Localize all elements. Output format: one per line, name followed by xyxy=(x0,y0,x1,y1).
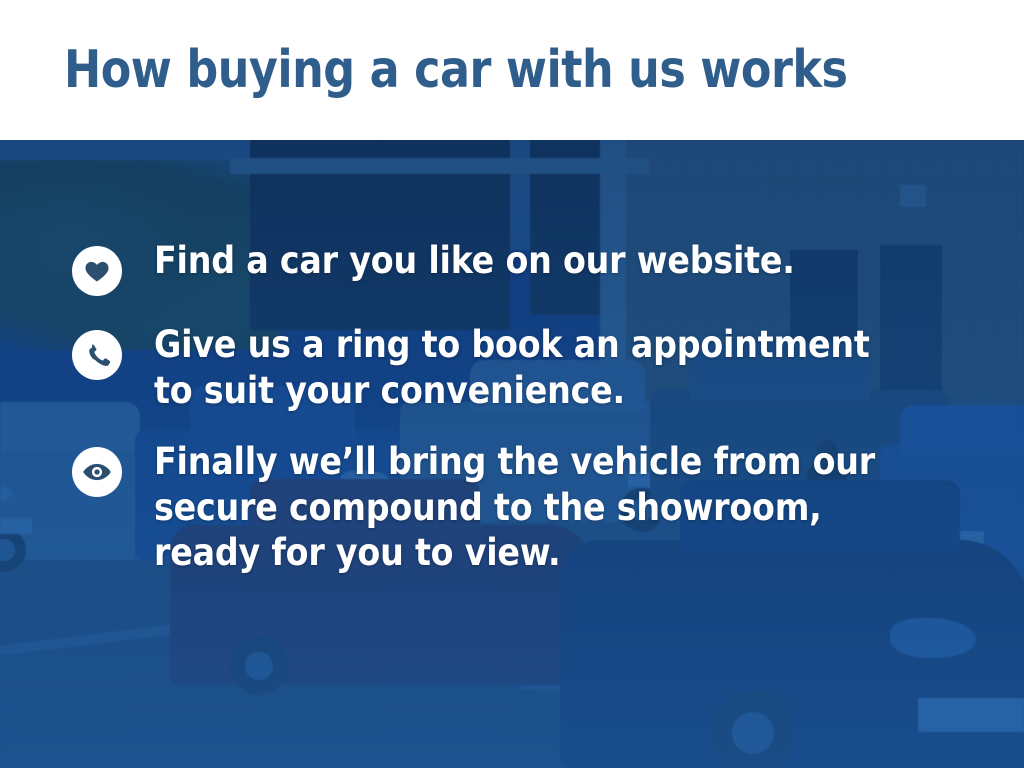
list-item-step-3: Finally we’ll bring the vehicle from our… xyxy=(0,439,1024,576)
page-title: How buying a car with us works xyxy=(64,44,847,96)
steps-list: Find a car you like on our website. Give… xyxy=(0,140,1024,768)
hero-banner: Find a car you like on our website. Give… xyxy=(0,140,1024,768)
header-band: How buying a car with us works xyxy=(0,0,1024,140)
step-label: Find a car you like on our website. xyxy=(154,238,795,284)
eye-icon xyxy=(72,447,122,497)
step-label: Give us a ring to book an appointment to… xyxy=(154,322,870,413)
list-item-step-1: Find a car you like on our website. xyxy=(0,238,1024,296)
phone-icon xyxy=(72,330,122,380)
step-label: Finally we’ll bring the vehicle from our… xyxy=(154,439,875,576)
list-item-step-2: Give us a ring to book an appointment to… xyxy=(0,322,1024,413)
slide: How buying a car with us works xyxy=(0,0,1024,768)
heart-icon xyxy=(72,246,122,296)
